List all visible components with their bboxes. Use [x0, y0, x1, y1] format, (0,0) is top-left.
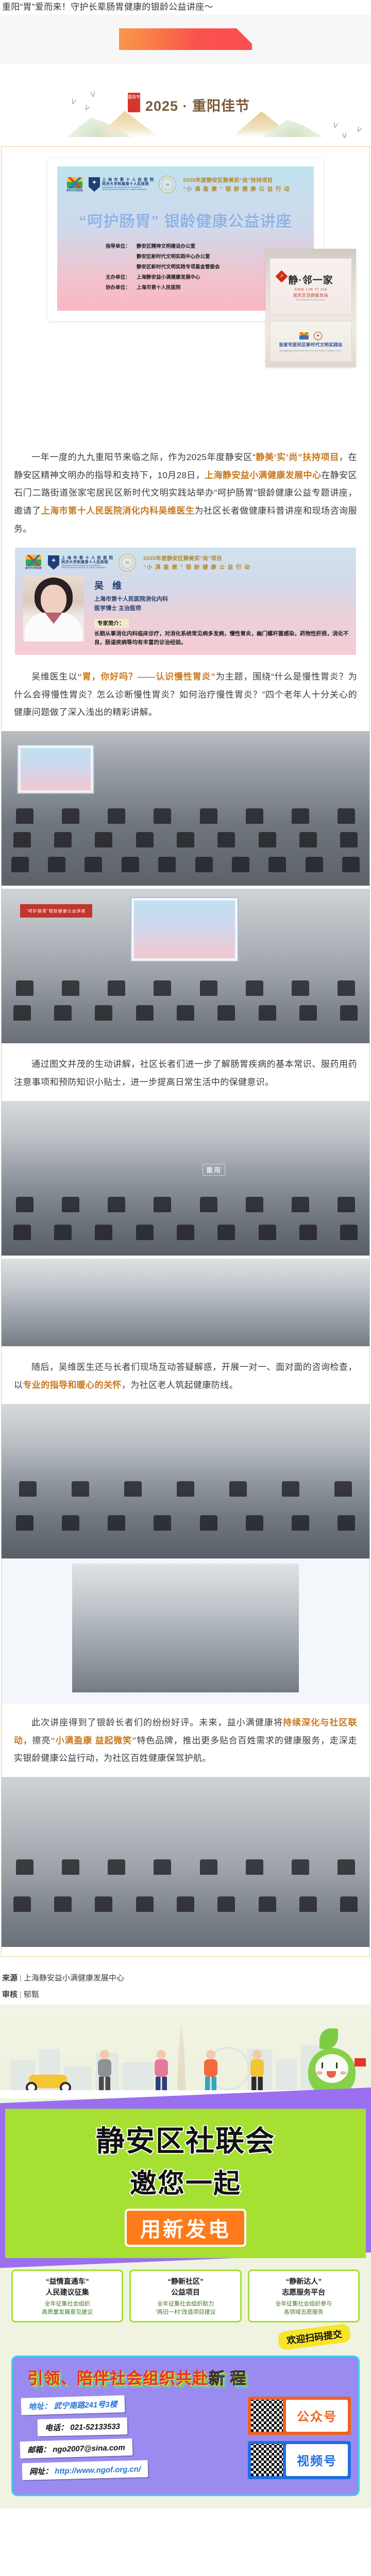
doctor-card-logo-row: 新时代文明实践 上 海 市 第 十 人 民 医 院 同济大学附属第十人民医院 S… [15, 548, 356, 575]
civilization-mark-icon [26, 555, 41, 566]
bird-icon: ᐯ [342, 132, 347, 141]
hospital-name-en-2: TENTH PEOPLE'S HOSPITAL OF TONGJI UNIVER… [102, 189, 154, 191]
contact-address: 地址： 武宁南路241号3楼 [21, 2395, 125, 2415]
promo-card-title: “静新达人” 志愿服务平台 [254, 2276, 354, 2297]
doctor-portrait-photo [23, 575, 84, 641]
qr-official-account-row[interactable]: 公众号 [248, 2397, 351, 2435]
promo-card[interactable]: “益情直通车” 人民建议征集 全年征集社会组织 高质量发展意见建议 [11, 2269, 123, 2323]
promo-card-subtitle: 全年征集社会组织 高质量发展意见建议 [17, 2299, 117, 2316]
qr-code-column: 公众号 视频号 [248, 2397, 351, 2485]
event-photo-audience-listening: 重用 [2, 1101, 369, 1256]
runner-figure-2 [155, 2050, 168, 2091]
doctor-name: 吴 维 [94, 579, 356, 592]
account-logo-image [119, 28, 252, 50]
red-flag-icon [355, 2058, 366, 2066]
qr-video-account-label: 视频号 [286, 2444, 348, 2476]
photo-block-audience-1 [2, 731, 369, 886]
page-bottom-spacer [0, 2509, 371, 2518]
p5-text-b: ，擦亮 [23, 1736, 51, 1745]
delivery-scooter-icon [24, 2063, 73, 2093]
p5-text-a: 此次讲座得到了银龄长者们的纷纷好评。未来，益小满健康将 [31, 1718, 283, 1727]
runner-figure-3 [204, 2050, 217, 2091]
page-titlebar: 重阳“胃”爱而来！守护长辈肠胃健康的银龄公益讲座～ [0, 0, 371, 14]
plaque-title: 静·邻一家 [288, 273, 333, 286]
paragraph-3: 通过图文并茂的生动讲解，社区长者们进一步了解肠胃疾病的基本常识、服药用药注意事项… [2, 1056, 369, 1092]
promo-card-title: “益情直通车” 人民建议征集 [17, 2276, 117, 2297]
organizer-key: 协办单位： [106, 283, 137, 293]
meta-source-label: 来源 [2, 1974, 18, 1982]
bird-icon: ᐯ [332, 121, 339, 130]
doctor-card-project-line-1: 2025年度静安区静美实“尚”项目 [143, 554, 250, 562]
volunteer-mark-icon: ♥ [314, 332, 322, 340]
promo-card-subtitle: 全年征集社会组织助力 “两旧一村”改造项目建议 [135, 2299, 235, 2316]
hospital-logo: 上 海 市 第 十 人 民 医 院 同济大学附属第十人民医院 SHANGHAI … [48, 555, 113, 570]
organizer-value: 上海静安益小满健康发展中心 [137, 275, 200, 280]
promo-title-band: 静安区社联会 邀您一起 用新发电 [0, 2088, 371, 2268]
article-meta: 来源|上海静安益小满健康发展中心 审核|郁甄 [0, 1957, 371, 2005]
poster-headline: “呵护肠胃” 银龄健康公益讲座 [62, 209, 309, 231]
poster-section: 新时代文明实践 上 海 市 第 十 人 民 医 院 同济大学附属第十人民医院 S… [2, 158, 369, 444]
promo-title-green-block: 静安区社联会 邀您一起 用新发电 [5, 2109, 366, 2258]
doctor-card-project-line-2: “小 满 盈 康 ” 银 龄 健 康 公 益 行 动 [143, 563, 250, 571]
xiaomanyingkang-seal-mark: m [161, 178, 174, 191]
photo-block-consultation-1 [2, 1404, 369, 1558]
organizer-key: 主办单位： [106, 273, 137, 283]
p1-highlight-3: 上海市第十人民医院消化内科吴维医生 [41, 506, 195, 516]
event-photo-final-group [2, 1777, 369, 1947]
bird-icon: ᐯ [90, 90, 96, 99]
hospital-logo: 上 海 市 第 十 人 民 医 院 同济大学附属第十人民医院 SHANGHAI … [89, 177, 154, 192]
contact-website[interactable]: 网址： http://www.ngof.org.cn/ [22, 2460, 148, 2480]
festival-title: 2025 · 重阳佳节 [145, 95, 250, 115]
mascot-icon [304, 2028, 364, 2095]
p5-highlight-2: “小满盈康 益起微笑” [50, 1736, 137, 1745]
promo-city-illustration [0, 2005, 371, 2098]
account-banner-strip [0, 14, 371, 64]
hospital-shield-icon [89, 177, 100, 192]
promo-scan-note-wrap: 欢迎扫码提交 [0, 2323, 371, 2346]
p2-highlight: “胃，你好吗？——认识慢性胃炎” [77, 672, 215, 682]
hospital-name-cn-2: 同济大学附属第十人民医院 [61, 561, 113, 565]
xiaomanyingkang-seal-icon: m [119, 554, 136, 571]
event-photo-consultation-closeup [72, 1564, 299, 1692]
meta-separator: | [18, 1974, 24, 1982]
poster-logo-row: 新时代文明实践 上 海 市 第 十 人 民 医 院 同济大学附属第十人民医院 S… [62, 175, 309, 199]
promo-scan-note: 欢迎扫码提交 [277, 2323, 351, 2350]
contact-info-box: 引领、陪伴社会组织共赴新 程 地址： 武宁南路241号3楼 电话： 021-52… [11, 2355, 360, 2496]
organizer-value: 静安区新时代文明实践中心办公室 [137, 254, 210, 260]
runner-figure-1 [98, 2050, 111, 2091]
promo-title-line-2: 邀您一起 [5, 2162, 366, 2200]
practice-station-name-cn: 张家宅居民区新时代文明实践站 [279, 342, 342, 348]
meta-review-value: 郁甄 [24, 1990, 39, 1999]
promo-card-subtitle: 全年征集社会组织参与 各领域志愿服务 [254, 2299, 354, 2316]
civilization-practice-logo: 新时代文明实践 [24, 555, 43, 570]
doctor-bio-text: 长期从事消化内科临床诊疗，对消化系统常见病多发病，慢性胃炎，幽门螺杆菌感染，药物… [94, 630, 356, 648]
plaque-subtitle: 居民区党群服务站 [293, 293, 328, 298]
organizer-value: 静安区新时代文明实践专项基金管委会 [137, 264, 220, 270]
paragraph-5: 此次讲座得到了银龄长者们的纷纷好评。未来，益小满健康将持续深化与社区联动，擦亮“… [2, 1714, 369, 1768]
venue-plaque-photo: ☭ 静·邻一家 JING LIN YI JIA 居民区党群服务站 Party M… [265, 249, 356, 367]
projection-screen-slide [134, 901, 235, 958]
p4-text-b: ，为社区老人筑起健康防线。 [122, 1380, 238, 1390]
projection-screen [17, 744, 94, 794]
qr-code-icon[interactable] [251, 2400, 283, 2432]
projection-screen-slide [21, 748, 91, 790]
doctor-bio-label: 专家简介： [94, 619, 129, 628]
doctor-titles: 医学博士 主治医师 [94, 604, 356, 614]
paragraph-4: 随后，吴维医生还与长者们现场互动答疑解惑，开展一对一、面对面的咨询检查，以专业的… [2, 1359, 369, 1395]
doctor-affiliation: 上海市第十人民医院消化内科 [94, 595, 356, 604]
projection-screen [130, 897, 239, 962]
page-title: 重阳“胃”爱而来！守护长辈肠胃健康的银龄公益讲座～ [2, 0, 213, 14]
organizer-value: 上海市第十人民医院 [137, 285, 181, 291]
party-emblem-icon: ☭ [275, 270, 288, 282]
p1-text-a: 一年一度的九九重阳节来临之际，作为2025年度静安区“ [31, 452, 256, 462]
practice-station-name-en: Zhangjiazhai Residential New Era Civiliz… [279, 349, 342, 352]
photo-block-group [2, 1259, 369, 1346]
event-photo-lecture: “呵护肠胃”银龄健康公益讲座 [2, 889, 369, 1043]
portrait-face [41, 585, 66, 616]
meta-source-row: 来源|上海静安益小满健康发展中心 [2, 1970, 369, 1987]
xiaomanyingkang-seal-mark: m [121, 556, 133, 569]
photo-block-consultation-2 [2, 1558, 369, 1704]
contact-website-url: http://www.ngof.org.cn/ [55, 2465, 141, 2476]
civilization-logo-label: 新时代文明实践 [24, 567, 43, 570]
contact-headline: 引领、陪伴社会组织共赴新 程 [20, 2365, 351, 2388]
organizer-key: 指导单位： [106, 242, 137, 252]
bird-icon: ᐯ [355, 125, 363, 134]
festival-header-illustration: ᐯ ᐯ ᐯ ᐯ ᐯ ᐯ 重阳节 2025 · 重阳佳节 [0, 64, 371, 146]
civilization-mark-icon [67, 177, 82, 189]
hospital-name-cn-1: 上 海 市 第 十 人 民 医 院 [102, 178, 154, 182]
promo-title-line-3: 用新发电 [125, 2209, 246, 2247]
event-photo-group-seated [2, 1259, 369, 1346]
contact-headline-main: 引领、陪伴社会组织共赴 [27, 2369, 209, 2387]
promo-card-title: “静新社区” 公益项目 [135, 2276, 235, 2297]
bird-icon: ᐯ [83, 104, 91, 113]
promo-card[interactable]: “静新社区” 公益项目 全年征集社会组织助力 “两旧一村”改造项目建议 [129, 2269, 241, 2323]
promo-card-row: “益情直通车” 人民建议征集 全年征集社会组织 高质量发展意见建议 “静新社区”… [0, 2260, 371, 2323]
civilization-mark-icon [299, 332, 309, 340]
p1-highlight-2: 上海静安益小满健康发展中心 [205, 470, 321, 480]
doctor-profile-card: 新时代文明实践 上 海 市 第 十 人 民 医 院 同济大学附属第十人民医院 S… [15, 548, 356, 655]
contact-email: 邮箱： ngo2007@sina.com [20, 2438, 133, 2459]
event-photo-audience-wide [2, 731, 369, 886]
article-body: ᐯ ᐯ ᐯ ᐯ ᐯ ᐯ 重阳节 2025 · 重阳佳节 新时代文明实践 [0, 64, 371, 2518]
hospital-shield-icon [48, 555, 59, 570]
runner-figure-4 [250, 2050, 264, 2091]
poster-project-line-1: 2025年度静安区静美实“尚”扶持项目 [183, 176, 290, 184]
xiaomanyingkang-seal-icon: m [159, 176, 176, 193]
paragraph-2: 吴维医生以“胃，你好吗？——认识慢性胃炎”为主题，围绕“什么是慢性胃炎？为什么会… [2, 668, 369, 722]
promo-title-line-1: 静安区社联会 [5, 2118, 366, 2160]
contact-details: 地址： 武宁南路241号3楼 电话： 021-52133533 邮箱： ngo2… [20, 2397, 241, 2483]
plaque-subtitle-en: Party Masses Service Center [296, 298, 325, 301]
p4-highlight: 专业的指导和暖心的关怀 [23, 1380, 121, 1390]
photo-content [2, 731, 369, 886]
meta-review-row: 审核|郁甄 [2, 1987, 369, 2003]
photo-block-lecture: “呵护肠胃”银龄健康公益讲座 [2, 889, 369, 1043]
hospital-name-en-2: TENTH PEOPLE'S HOSPITAL OF TONGJI UNIVER… [61, 567, 113, 569]
event-red-banner: “呵护肠胃”银龄健康公益讲座 [20, 904, 92, 918]
paragraph-1: 一年一度的九九重阳节来临之际，作为2025年度静安区“静美‘实’尚”扶持项目，在… [2, 449, 369, 538]
doctor-info: 吴 维 上海市第十人民医院消化内科 医学博士 主治医师 专家简介： 长期从事消化… [84, 575, 356, 648]
contact-phone: 电话： 021-52133533 [38, 2417, 128, 2436]
poster-project-line-2: “小 满 盈 康 ” 银 龄 健 康 公 益 行 动 [183, 185, 290, 193]
doctor-card-project-lines: 2025年度静安区静美实“尚”项目 “小 满 盈 康 ” 银 龄 健 康 公 益… [143, 554, 250, 571]
qr-video-account-row[interactable]: 视频号 [248, 2441, 351, 2479]
civilization-logo-label: 新时代文明实践 [65, 189, 84, 192]
content-frame: 新时代文明实践 上 海 市 第 十 人 民 医 院 同济大学附属第十人民医院 S… [1, 146, 370, 1957]
bottom-promo-poster: 静安区社联会 邀您一起 用新发电 “益情直通车” 人民建议征集 全年征集社会组织… [0, 2005, 371, 2509]
organizer-value: 静安区精神文明建设办公室 [137, 244, 195, 249]
contact-website-label: 网址： [29, 2467, 53, 2476]
chongyang-seal-stamp: 重阳节 [128, 93, 140, 112]
poster-project-lines: 2025年度静安区静美实“尚”扶持项目 “小 满 盈 康 ” 银 龄 健 康 公… [183, 176, 290, 193]
photo-content: “呵护肠胃”银龄健康公益讲座 [2, 889, 369, 1043]
photo-block-audience-2: 重用 [2, 1101, 369, 1256]
plaque-pinyin: JING LIN YI JIA [294, 288, 327, 292]
p2-text-a: 吴维医生以 [31, 672, 77, 682]
photo-content: 重用 [2, 1101, 369, 1256]
qr-official-account-label: 公众号 [286, 2400, 348, 2432]
promo-card[interactable]: “静新达人” 志愿服务平台 全年征集社会组织参与 各领域志愿服务 [248, 2269, 360, 2323]
hospital-name-cn-1: 上 海 市 第 十 人 民 医 院 [61, 556, 113, 561]
p1-highlight-1: 静美‘实’尚”扶持项目 [256, 452, 339, 462]
bird-icon: ᐯ [70, 97, 77, 107]
photo-block-final-group [2, 1777, 369, 1947]
contact-headline-tail: 新 程 [209, 2369, 247, 2387]
civilization-practice-logo: 新时代文明实践 [65, 177, 84, 192]
meta-review-label: 审核 [2, 1990, 18, 1999]
meta-source-value: 上海静安益小满健康发展中心 [24, 1974, 124, 1982]
plaque-board-bottom: ♥ 张家宅居民区新时代文明实践站 Zhangjiazhai Residentia… [269, 321, 352, 362]
qr-code-icon[interactable] [251, 2444, 283, 2476]
hospital-name-cn-2: 同济大学附属第十人民医院 [102, 182, 154, 187]
photo-watermark: 重用 [203, 1164, 225, 1176]
event-photo-consultation-top [2, 1404, 369, 1558]
tv-tower-icon [170, 2021, 193, 2098]
meta-separator: | [18, 1990, 24, 1999]
plaque-board-top: ☭ 静·邻一家 JING LIN YI JIA 居民区党群服务站 Party M… [269, 258, 352, 315]
